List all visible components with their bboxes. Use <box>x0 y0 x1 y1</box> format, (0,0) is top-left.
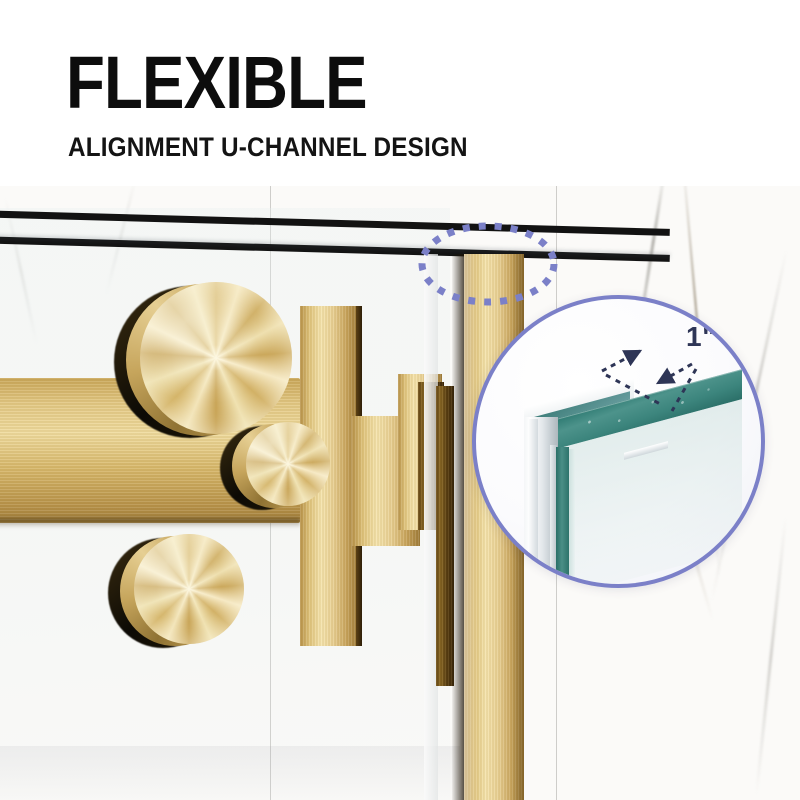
dashed-ellipse-marker <box>418 222 558 306</box>
dimension-arrows <box>596 329 746 439</box>
dimension-label: 1" <box>686 321 716 353</box>
page-subtitle: ALIGNMENT U-CHANNEL DESIGN <box>68 134 468 161</box>
header-band: FLEXIBLE ALIGNMENT U-CHANNEL DESIGN <box>0 0 800 186</box>
product-photo: 1" Compensates wall unevenness with 1" a… <box>0 186 800 800</box>
roller-wheel-lower <box>134 534 244 644</box>
product-feature-card: FLEXIBLE ALIGNMENT U-CHANNEL DESIGN <box>0 0 800 800</box>
page-title: FLEXIBLE <box>66 46 367 120</box>
roller-wheel-large <box>140 282 292 434</box>
glass-vertical-edge <box>556 447 569 588</box>
roller-wheel-medium <box>246 422 330 506</box>
magnified-detail-circle: 1" <box>472 295 765 588</box>
